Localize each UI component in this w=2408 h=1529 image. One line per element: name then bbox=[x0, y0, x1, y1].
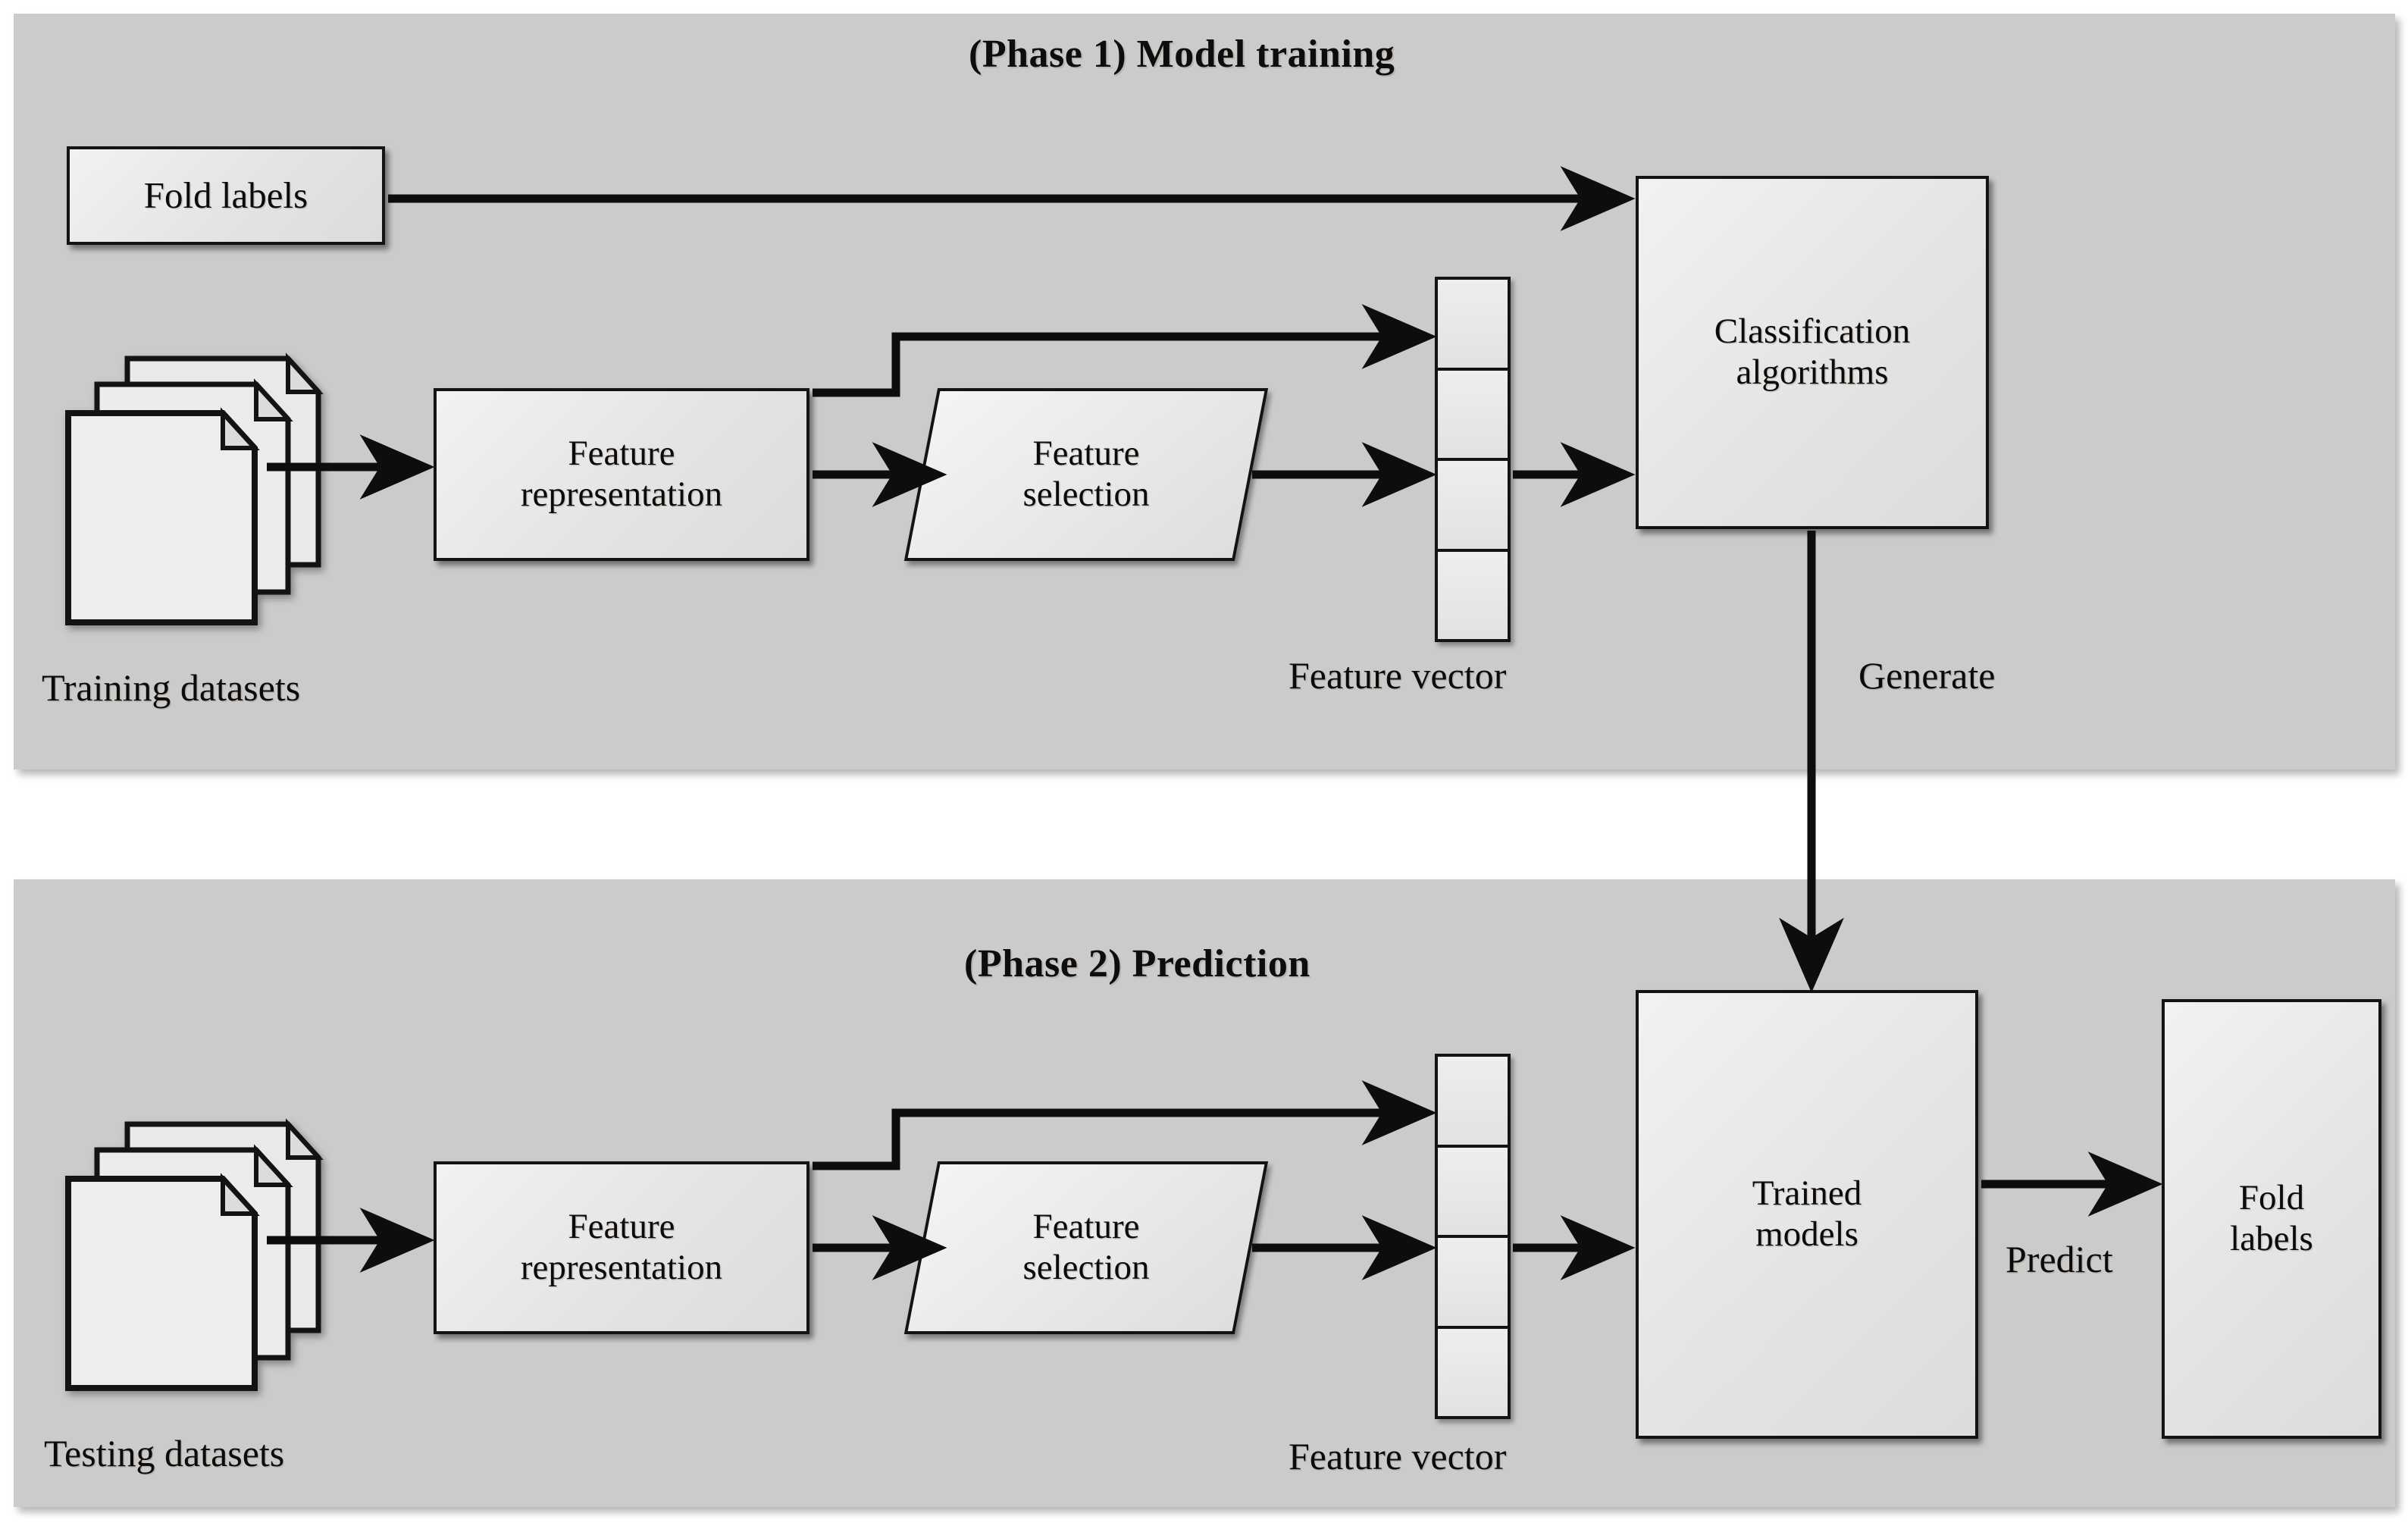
feature-vector-cell bbox=[1438, 1057, 1508, 1148]
fold-labels-output-label: Fold labels bbox=[2230, 1178, 2313, 1259]
feature-vector-phase2 bbox=[1435, 1054, 1511, 1419]
fl2-line2: labels bbox=[2230, 1219, 2313, 1258]
documents-stack-icon-testing bbox=[61, 1103, 364, 1406]
feature-vector-phase1 bbox=[1435, 277, 1511, 642]
feature-vector-cell bbox=[1438, 1238, 1508, 1329]
fr2-line2: representation bbox=[521, 1248, 722, 1287]
fold-labels-output-box: Fold labels bbox=[2162, 999, 2381, 1439]
feature-vector-caption-phase2: Feature vector bbox=[1289, 1434, 1506, 1478]
fs2-line2: selection bbox=[1022, 1248, 1149, 1287]
tm-line2: models bbox=[1755, 1214, 1858, 1254]
fs1-line1: Feature bbox=[1033, 434, 1140, 473]
feature-representation-box-phase2: Feature representation bbox=[434, 1161, 809, 1334]
feature-vector-cell bbox=[1438, 461, 1508, 552]
fr1-line1: Feature bbox=[568, 434, 675, 473]
fold-labels-input-label: Fold labels bbox=[144, 174, 308, 217]
testing-datasets-caption: Testing datasets bbox=[44, 1431, 284, 1475]
feature-vector-cell bbox=[1438, 1329, 1508, 1417]
fs2-line1: Feature bbox=[1033, 1207, 1140, 1246]
fr2-line1: Feature bbox=[568, 1207, 675, 1246]
fl2-line1: Fold bbox=[2239, 1178, 2304, 1217]
feature-vector-caption-phase1: Feature vector bbox=[1289, 653, 1506, 697]
clf-line1: Classification bbox=[1714, 312, 1910, 351]
predict-edge-label: Predict bbox=[2006, 1237, 2113, 1281]
documents-stack-icon-training bbox=[61, 337, 364, 641]
trained-models-label: Trained models bbox=[1752, 1173, 1862, 1255]
generate-edge-label: Generate bbox=[1858, 653, 1995, 697]
fr1-line2: representation bbox=[521, 475, 722, 514]
feature-selection-label-phase1: Feature selection bbox=[921, 388, 1251, 561]
feature-representation-label-phase2: Feature representation bbox=[521, 1207, 722, 1288]
training-datasets-caption: Training datasets bbox=[42, 666, 300, 710]
diagram-canvas: (Phase 1) Model training Fold labels Tra… bbox=[0, 0, 2408, 1529]
phase-2-title: (Phase 2) Prediction bbox=[964, 942, 1310, 986]
feature-vector-cell bbox=[1438, 280, 1508, 371]
feature-vector-cell bbox=[1438, 371, 1508, 462]
feature-selection-shape-phase1: Feature selection bbox=[921, 388, 1251, 561]
clf-line2: algorithms bbox=[1736, 352, 1888, 392]
feature-representation-box-phase1: Feature representation bbox=[434, 388, 809, 561]
fs1-line2: selection bbox=[1022, 475, 1149, 514]
tm-line1: Trained bbox=[1752, 1173, 1862, 1213]
trained-models-box: Trained models bbox=[1636, 990, 1978, 1439]
feature-vector-cell bbox=[1438, 552, 1508, 640]
feature-representation-label-phase1: Feature representation bbox=[521, 434, 722, 515]
feature-vector-cell bbox=[1438, 1148, 1508, 1239]
classification-algorithms-box: Classification algorithms bbox=[1636, 176, 1989, 529]
phase-1-title: (Phase 1) Model training bbox=[969, 32, 1395, 77]
classification-algorithms-label: Classification algorithms bbox=[1714, 312, 1910, 393]
feature-selection-label-phase2: Feature selection bbox=[921, 1161, 1251, 1334]
fold-labels-input-box: Fold labels bbox=[67, 146, 385, 245]
feature-selection-shape-phase2: Feature selection bbox=[921, 1161, 1251, 1334]
